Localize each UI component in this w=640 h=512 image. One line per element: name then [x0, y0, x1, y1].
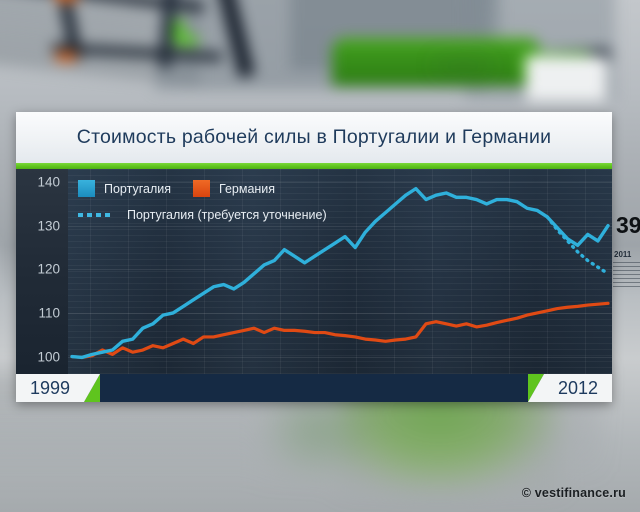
legend-swatch-germany	[193, 180, 210, 197]
y-axis: 140 130 120 110 100	[16, 169, 68, 374]
screenshot-root: Economic 39 2011 Стоимость рабочей силы …	[0, 0, 640, 512]
studio-economic-label: Economic	[438, 60, 490, 72]
chart-legend: Португалия Германия Португалия (требуетс…	[78, 180, 349, 223]
background-text-lines	[613, 262, 640, 288]
y-tick-110: 110	[38, 305, 60, 320]
y-tick-140: 140	[37, 175, 60, 190]
background-number: 39	[616, 212, 640, 239]
legend-row-dotted: Португалия (требуется уточнение)	[78, 206, 349, 223]
legend-swatch-portugal-estimate	[78, 206, 118, 223]
plot-wrapper: 140 130 120 110 100 Португалия Германия	[16, 169, 612, 374]
legend-swatch-portugal	[78, 180, 95, 197]
legend-label-portugal-estimate: Португалия (требуется уточнение)	[127, 208, 327, 222]
line-germany	[72, 303, 608, 357]
x-axis-footer: 1999 2012	[16, 374, 612, 402]
x-axis-start-year: 1999	[30, 378, 70, 399]
chart-header: Стоимость рабочей силы в Португалии и Ге…	[16, 112, 612, 163]
y-tick-100: 100	[37, 349, 60, 364]
legend-label-portugal: Португалия	[104, 182, 171, 196]
x-axis-end-year: 2012	[558, 378, 598, 399]
watermark: © vestifinance.ru	[522, 486, 626, 500]
y-tick-130: 130	[37, 218, 60, 233]
legend-row-solid: Португалия Германия	[78, 180, 349, 197]
page-title: Стоимость рабочей силы в Португалии и Ге…	[77, 126, 551, 149]
chart-panel: Стоимость рабочей силы в Португалии и Ге…	[16, 112, 612, 402]
footer-bar	[84, 374, 544, 402]
y-tick-120: 120	[37, 262, 60, 277]
legend-label-germany: Германия	[219, 182, 275, 196]
background-year: 2011	[614, 250, 631, 259]
